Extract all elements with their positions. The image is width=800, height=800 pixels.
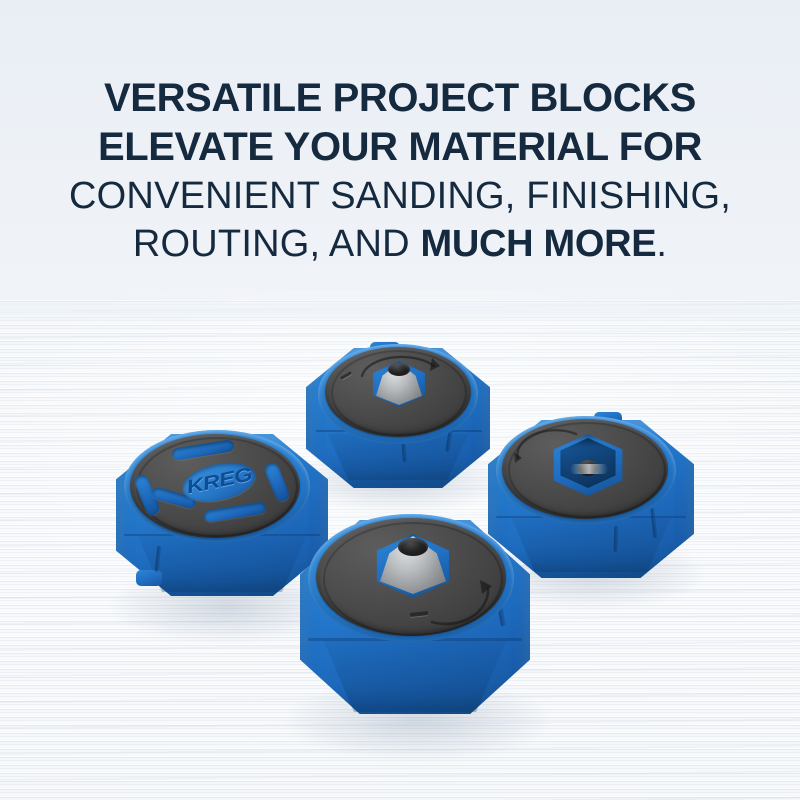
headline-line-2: ELEVATE YOUR MATERIAL FOR (0, 123, 800, 172)
headline-line-4: ROUTING, AND MUCH MORE. (0, 220, 800, 268)
project-block-front-center[interactable] (292, 500, 542, 740)
surface-horizon-seam (0, 296, 800, 322)
cone-bore-hole-front-center (398, 538, 428, 556)
headline-block: VERSATILE PROJECT BLOCKS ELEVATE YOUR MA… (0, 74, 800, 268)
headline-line-4-prefix: ROUTING, AND (133, 223, 421, 265)
headline-line-1: VERSATILE PROJECT BLOCKS (0, 74, 800, 123)
headline-line-4-suffix: . (656, 223, 667, 265)
block-skirt-front-center (306, 640, 524, 712)
socket-metal-glint-right (570, 464, 608, 474)
block-tab-left (136, 570, 162, 586)
headline-line-3: CONVENIENT SANDING, FINISHING, (0, 172, 800, 220)
headline-emphasis-much-more: MUCH MORE (421, 223, 657, 265)
cone-bore-hole-rear-center (388, 363, 410, 376)
hero-image-canvas: VERSATILE PROJECT BLOCKS ELEVATE YOUR MA… (0, 0, 800, 800)
